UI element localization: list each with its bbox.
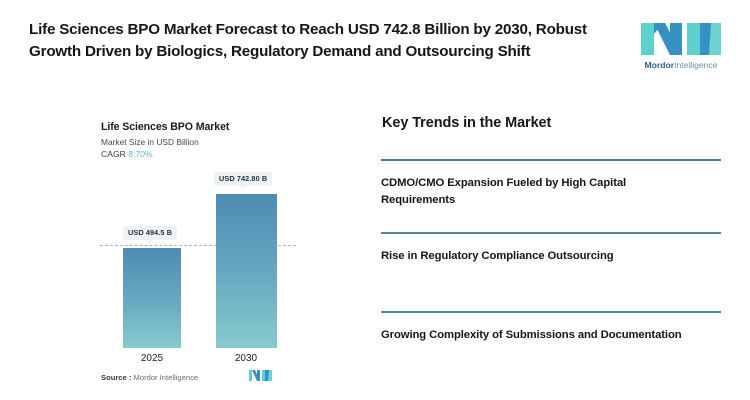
x-axis-tick-2025: 2025 xyxy=(117,353,187,364)
x-axis-tick-2030: 2030 xyxy=(211,353,281,364)
bar-value-label-2030: USD 742.80 B xyxy=(214,172,272,186)
mordor-intelligence-small-logo xyxy=(248,369,274,382)
key-trends-panel: Key Trends in the Market CDMO/CMO Expans… xyxy=(381,95,726,400)
trend-divider xyxy=(381,159,721,161)
page-title: Life Sciences BPO Market Forecast to Rea… xyxy=(29,19,609,62)
bar-value-label-2025: USD 494.5 B xyxy=(123,226,177,240)
source-value: Mordor Intelligence xyxy=(134,373,199,382)
mordor-intelligence-logo-mark xyxy=(631,20,731,58)
chart-source: Source : Mordor Intelligence xyxy=(101,373,198,382)
trend-item[interactable]: CDMO/CMO Expansion Fueled by High Capita… xyxy=(381,159,721,209)
bar-2025[interactable] xyxy=(123,248,181,348)
brand-wordmark: MordorIntelligence xyxy=(631,60,731,70)
bar-2030[interactable] xyxy=(216,194,277,348)
trend-item-label: Growing Complexity of Submissions and Do… xyxy=(381,327,691,344)
trends-panel-title: Key Trends in the Market xyxy=(382,115,551,131)
trend-item[interactable]: Rise in Regulatory Compliance Outsourcin… xyxy=(381,232,721,265)
trend-item-label: CDMO/CMO Expansion Fueled by High Capita… xyxy=(381,175,691,209)
chart-panel: Life Sciences BPO Market Market Size in … xyxy=(0,95,370,400)
bar-chart-plot: USD 494.5 B USD 742.80 B 2025 2030 xyxy=(0,95,370,400)
brand-wordmark-bold: Mordor xyxy=(644,60,674,70)
brand-logo: MordorIntelligence xyxy=(631,20,731,76)
trend-item[interactable]: Growing Complexity of Submissions and Do… xyxy=(381,311,721,344)
trend-item-label: Rise in Regulatory Compliance Outsourcin… xyxy=(381,248,691,265)
source-label: Source : xyxy=(101,373,131,382)
page-header: Life Sciences BPO Market Forecast to Rea… xyxy=(0,0,750,95)
trend-divider xyxy=(381,232,721,234)
brand-wordmark-light: Intelligence xyxy=(674,60,717,70)
trend-divider xyxy=(381,311,721,313)
